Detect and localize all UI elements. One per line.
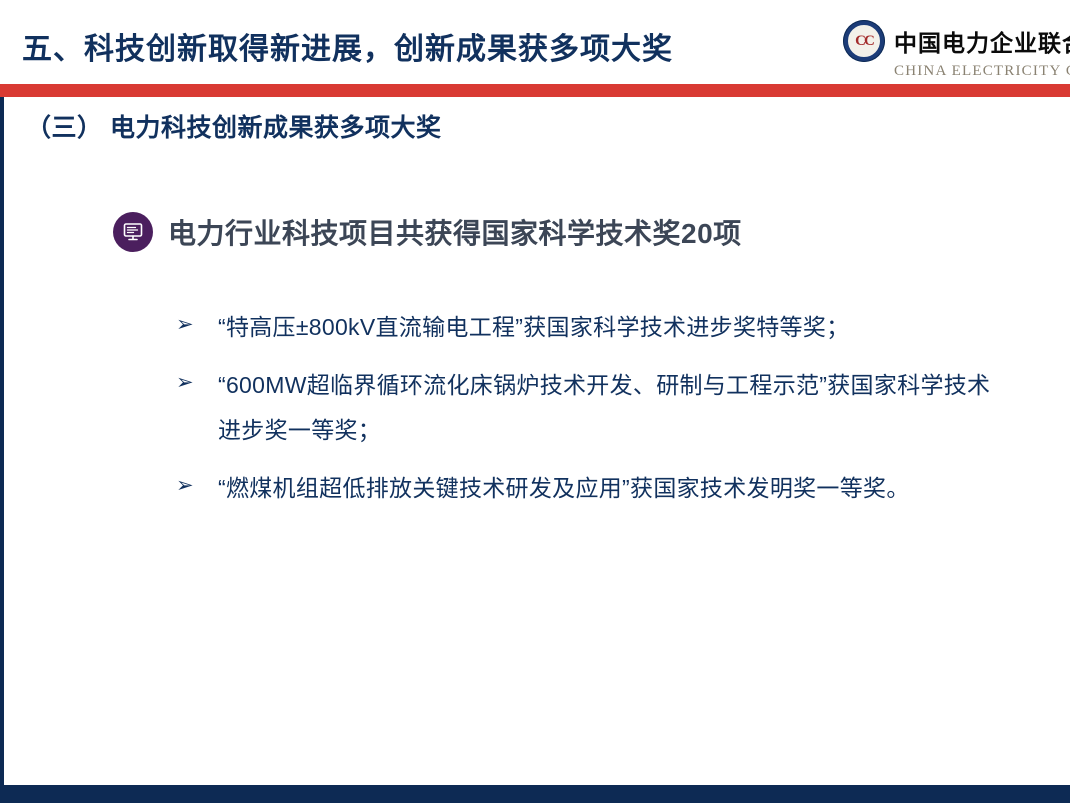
list-item: ➢ “特高压±800kV直流输电工程”获国家科学技术进步奖特等奖； (176, 305, 1006, 350)
list-item-text: “燃煤机组超低排放关键技术研发及应用”获国家技术发明奖一等奖。 (218, 466, 1006, 511)
organization-logo: CC 中国电力企业联合会 CHINA ELECTRICITY COUNCIL (843, 20, 1058, 78)
arrow-bullet-icon: ➢ (176, 305, 218, 343)
list-item-text: “特高压±800kV直流输电工程”获国家科学技术进步奖特等奖； (218, 305, 1006, 350)
slide-footer-bar (0, 785, 1070, 803)
list-item: ➢ “600MW超临界循环流化床锅炉技术开发、研制与工程示范”获国家科学技术进步… (176, 363, 1006, 453)
award-bullet-list: ➢ “特高压±800kV直流输电工程”获国家科学技术进步奖特等奖； ➢ “600… (176, 305, 1006, 524)
slide-header: 五、科技创新取得新进展，创新成果获多项大奖 CC 中国电力企业联合会 CHINA… (0, 0, 1070, 84)
logo-english-name: CHINA ELECTRICITY COUNCIL (894, 63, 1058, 80)
left-accent-strip (0, 0, 4, 803)
section-heading: 电力行业科技项目共获得国家科学技术奖20项 (113, 212, 742, 252)
section-subtitle: （三） 电力科技创新成果获多项大奖 (26, 108, 441, 144)
emblem-monogram: CC (843, 20, 885, 62)
list-item: ➢ “燃煤机组超低排放关键技术研发及应用”获国家技术发明奖一等奖。 (176, 466, 1006, 511)
arrow-bullet-icon: ➢ (176, 363, 218, 401)
cec-emblem-icon: CC (843, 20, 885, 62)
list-item-text: “600MW超临界循环流化床锅炉技术开发、研制与工程示范”获国家科学技术进步奖一… (218, 363, 1006, 453)
header-red-divider (0, 84, 1070, 97)
presentation-slide: 五、科技创新取得新进展，创新成果获多项大奖 CC 中国电力企业联合会 CHINA… (0, 0, 1070, 803)
arrow-bullet-icon: ➢ (176, 466, 218, 504)
logo-chinese-name: 中国电力企业联合会 (894, 24, 1070, 58)
page-title: 五、科技创新取得新进展，创新成果获多项大奖 (22, 24, 673, 68)
section-heading-text: 电力行业科技项目共获得国家科学技术奖20项 (168, 212, 742, 252)
computer-monitor-icon (113, 212, 153, 252)
